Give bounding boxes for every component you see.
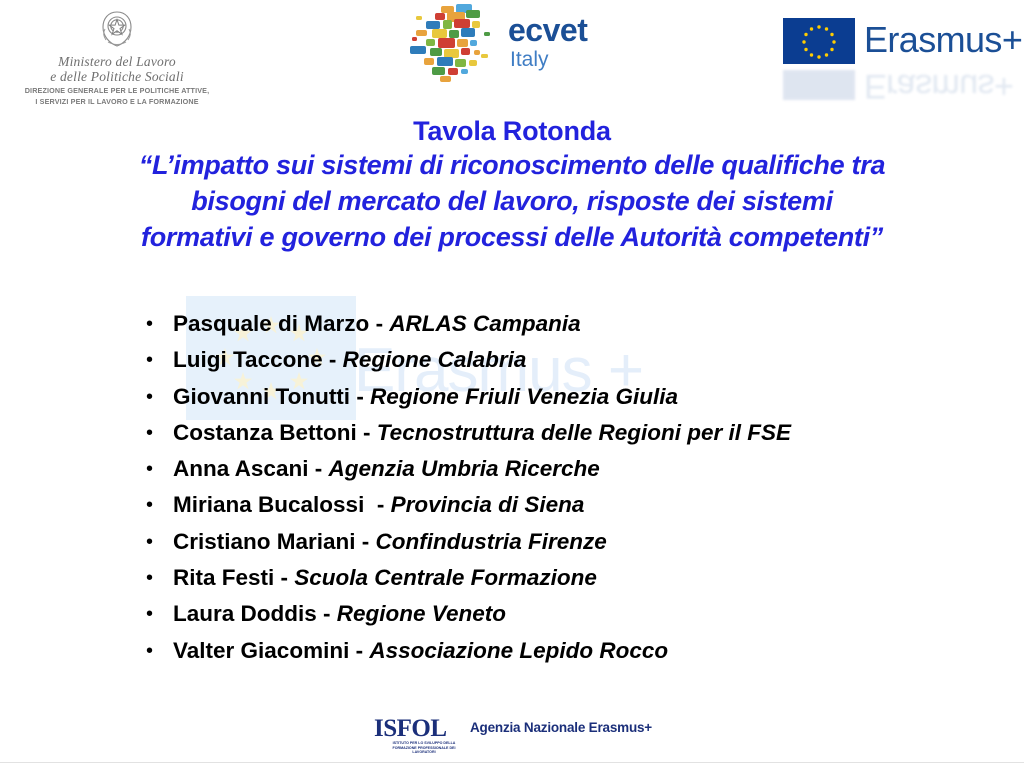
speaker-name: Giovanni Tonutti (173, 384, 350, 409)
speaker-name: Valter Giacomini (173, 638, 349, 663)
speaker-list: Pasquale di Marzo - ARLAS Campania Luigi… (140, 306, 1000, 669)
speaker-separator: - (308, 456, 328, 481)
speaker-organisation: Agenzia Umbria Ricerche (328, 456, 599, 481)
speaker-name: Pasquale di Marzo (173, 311, 369, 336)
national-agency-label: Agenzia Nazionale Erasmus+ (470, 720, 652, 736)
speaker-organisation: Scuola Centrale Formazione (294, 565, 597, 590)
ecvet-mosaic-icon (408, 4, 504, 86)
slide-header: Ministero del Lavoro e delle Politiche S… (0, 0, 1024, 112)
ministry-of-labour-logo: Ministero del Lavoro e delle Politiche S… (12, 6, 222, 106)
eu-flag-reflection-icon (783, 70, 855, 100)
italian-republic-emblem-icon (94, 6, 140, 52)
list-item: Giovanni Tonutti - Regione Friuli Venezi… (140, 379, 1000, 415)
speaker-separator: - (356, 529, 376, 554)
isfol-tagline: ISTITUTO PER LO SVILUPPO DELLA FORMAZION… (388, 741, 460, 755)
speaker-separator: - (274, 565, 294, 590)
footer-content: ISFOL ISTITUTO PER LO SVILUPPO DELLA FOR… (374, 716, 652, 755)
speaker-name: Luigi Taccone (173, 347, 323, 372)
list-item: Cristiano Mariani - Confindustria Firenz… (140, 524, 1000, 560)
speaker-name: Anna Ascani (173, 456, 308, 481)
speaker-separator: - (364, 492, 390, 517)
ecvet-italy-logo: ecvet Italy (408, 4, 698, 86)
speaker-name: Costanza Bettoni (173, 420, 357, 445)
isfol-logo: ISFOL ISTITUTO PER LO SVILUPPO DELLA FOR… (374, 716, 466, 755)
speaker-name: Miriana Bucalossi (173, 492, 364, 517)
ecvet-wordmark: ecvet (508, 14, 587, 46)
list-item: Costanza Bettoni - Tecnostruttura delle … (140, 415, 1000, 451)
speaker-organisation: Tecnostruttura delle Regioni per il FSE (377, 420, 791, 445)
erasmus-wordmark-reflection: Erasmus+ (864, 70, 1013, 102)
erasmus-wordmark: Erasmus+ (864, 17, 1022, 63)
speaker-separator: - (357, 420, 377, 445)
speaker-separator: - (349, 638, 369, 663)
ecvet-subtitle: Italy (510, 49, 549, 71)
slide-subtitle-line1: “L’impatto sui sistemi di riconoscimento… (40, 147, 984, 183)
list-item: Pasquale di Marzo - ARLAS Campania (140, 306, 1000, 342)
erasmus-plus-logo: Erasmus+ (780, 14, 1020, 70)
speaker-organisation: ARLAS Campania (389, 311, 580, 336)
list-item: Rita Festi - Scuola Centrale Formazione (140, 560, 1000, 596)
slide-subtitle-line3: formativi e governo dei processi delle A… (40, 219, 984, 255)
list-item: Valter Giacomini - Associazione Lepido R… (140, 633, 1000, 669)
list-item: Anna Ascani - Agenzia Umbria Ricerche (140, 451, 1000, 487)
list-item: Laura Doddis - Regione Veneto (140, 596, 1000, 632)
presentation-slide: Ministero del Lavoro e delle Politiche S… (0, 0, 1024, 768)
ministry-name-line1: Ministero del Lavoro (12, 54, 222, 69)
slide-subtitle-line2: bisogni del mercato del lavoro, risposte… (40, 183, 984, 219)
slide-footer: ISFOL ISTITUTO PER LO SVILUPPO DELLA FOR… (0, 716, 1024, 768)
erasmus-logo-reflection: Erasmus+ (780, 66, 1020, 100)
speaker-name: Laura Doddis (173, 601, 317, 626)
list-item: Miriana Bucalossi - Provincia di Siena (140, 487, 1000, 523)
slide-title: Tavola Rotonda (40, 116, 984, 147)
speaker-organisation: Regione Friuli Venezia Giulia (370, 384, 678, 409)
speaker-organisation: Confindustria Firenze (376, 529, 607, 554)
speaker-separator: - (323, 347, 343, 372)
speaker-organisation: Provincia di Siena (391, 492, 585, 517)
ministry-department-line1: DIREZIONE GENERALE PER LE POLITICHE ATTI… (12, 86, 222, 95)
list-item: Luigi Taccone - Regione Calabria (140, 342, 1000, 378)
slide-title-block: Tavola Rotonda “L’impatto sui sistemi di… (40, 116, 984, 255)
speaker-separator: - (317, 601, 337, 626)
speaker-organisation: Regione Calabria (343, 347, 527, 372)
speaker-name: Rita Festi (173, 565, 274, 590)
speaker-organisation: Associazione Lepido Rocco (369, 638, 668, 663)
isfol-wordmark: ISFOL (374, 716, 466, 741)
speaker-separator: - (369, 311, 389, 336)
eu-flag-icon (783, 18, 855, 64)
ministry-name-line2: e delle Politiche Sociali (12, 69, 222, 84)
speaker-name: Cristiano Mariani (173, 529, 356, 554)
speaker-organisation: Regione Veneto (337, 601, 506, 626)
speaker-separator: - (350, 384, 370, 409)
ministry-department-line2: I SERVIZI PER IL LAVORO E LA FORMAZIONE (12, 97, 222, 106)
